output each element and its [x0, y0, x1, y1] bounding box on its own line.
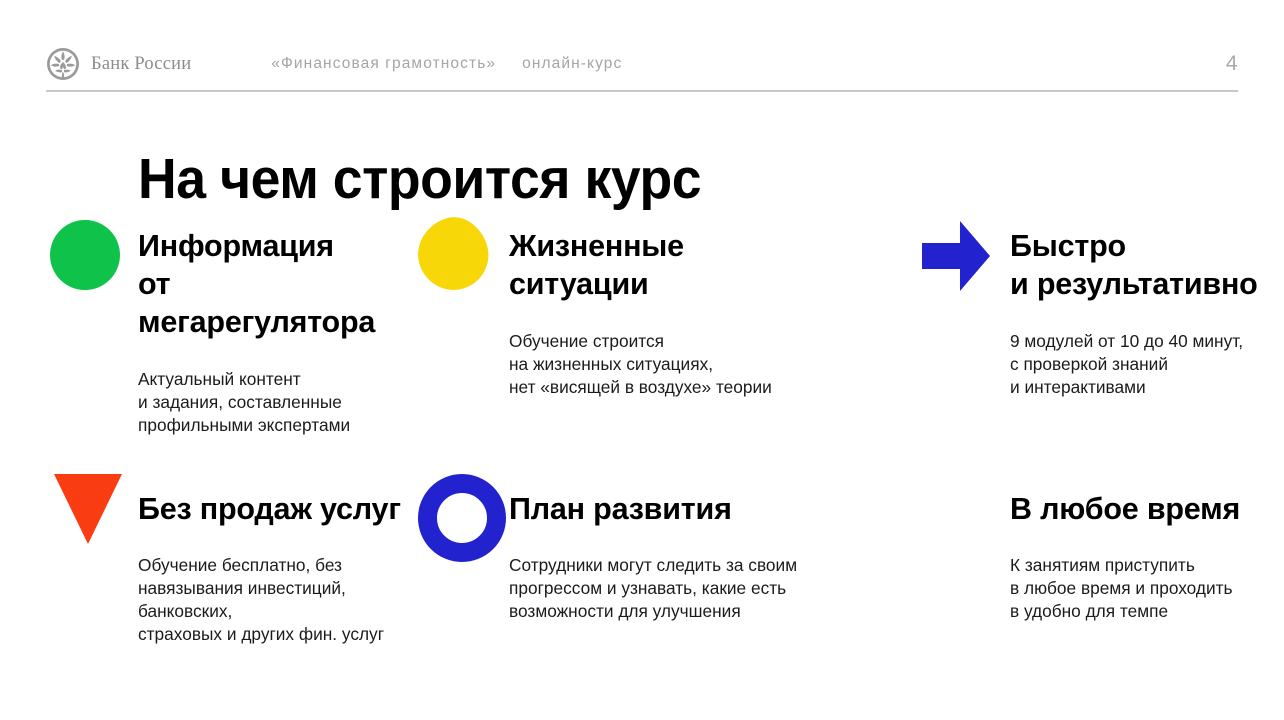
feature-heading: Жизненные ситуации — [509, 212, 922, 303]
triangle-down-glyph — [54, 474, 122, 544]
brand-block: Банк России — [46, 47, 191, 81]
header-divider — [46, 90, 1238, 92]
page-title: На чем строится курс — [138, 148, 701, 210]
blue-ring-icon — [416, 470, 494, 550]
course-type: онлайн-курс — [522, 55, 622, 73]
slide: Банк России «Финансовая грамотность» онл… — [0, 0, 1284, 720]
course-title: «Финансовая грамотность» — [271, 55, 496, 73]
feature-body: К занятиям приступить в любое время и пр… — [1010, 528, 1284, 623]
page-number: 4 — [1226, 52, 1238, 76]
yellow-blob-icon — [416, 212, 494, 292]
feature-body: Обучение бесплатно, без навязывания инве… — [138, 528, 414, 646]
features-grid: Информация от мегарегулятора Актуальный … — [0, 212, 1284, 720]
features-row: Информация от мегарегулятора Актуальный … — [0, 212, 1284, 470]
feature-body: Сотрудники могут следить за своим прогре… — [509, 528, 922, 623]
blue-arrow-right-icon — [922, 212, 1000, 292]
brand-name: Банк России — [91, 54, 191, 75]
feature-body: Обучение строится на жизненных ситуациях… — [509, 303, 922, 399]
slide-header: Банк России «Финансовая грамотность» онл… — [46, 38, 1238, 90]
red-triangle-down-icon — [50, 470, 128, 550]
feature-heading: Информация от мегарегулятора — [138, 212, 414, 341]
feature-heading: План развития — [509, 470, 922, 528]
feature-item-development-plan: План развития Сотрудники могут следить з… — [414, 470, 922, 720]
feature-item-no-sales: Без продаж услуг Обучение бесплатно, без… — [0, 470, 414, 720]
feature-heading: В любое время — [1010, 470, 1284, 528]
feature-item-fast-effective: Быстро и результативно 9 модулей от 10 д… — [922, 212, 1284, 470]
green-circle-icon — [50, 212, 128, 292]
feature-item-information: Информация от мегарегулятора Актуальный … — [0, 212, 414, 470]
feature-item-anytime: В любое время К занятиям приступить в лю… — [922, 470, 1284, 720]
bank-of-russia-emblem-icon — [46, 47, 80, 81]
features-row: Без продаж услуг Обучение бесплатно, без… — [0, 470, 1284, 720]
feature-heading: Быстро и результативно — [1010, 212, 1284, 303]
feature-body: 9 модулей от 10 до 40 минут, с проверкой… — [1010, 303, 1284, 399]
arrow-right-glyph — [922, 220, 990, 292]
feature-item-life-situations: Жизненные ситуации Обучение строится на … — [414, 212, 922, 470]
feature-body: Актуальный контент и задания, составленн… — [138, 341, 414, 437]
header-course-info: «Финансовая грамотность» онлайн-курс — [271, 55, 622, 73]
feature-heading: Без продаж услуг — [138, 470, 414, 528]
